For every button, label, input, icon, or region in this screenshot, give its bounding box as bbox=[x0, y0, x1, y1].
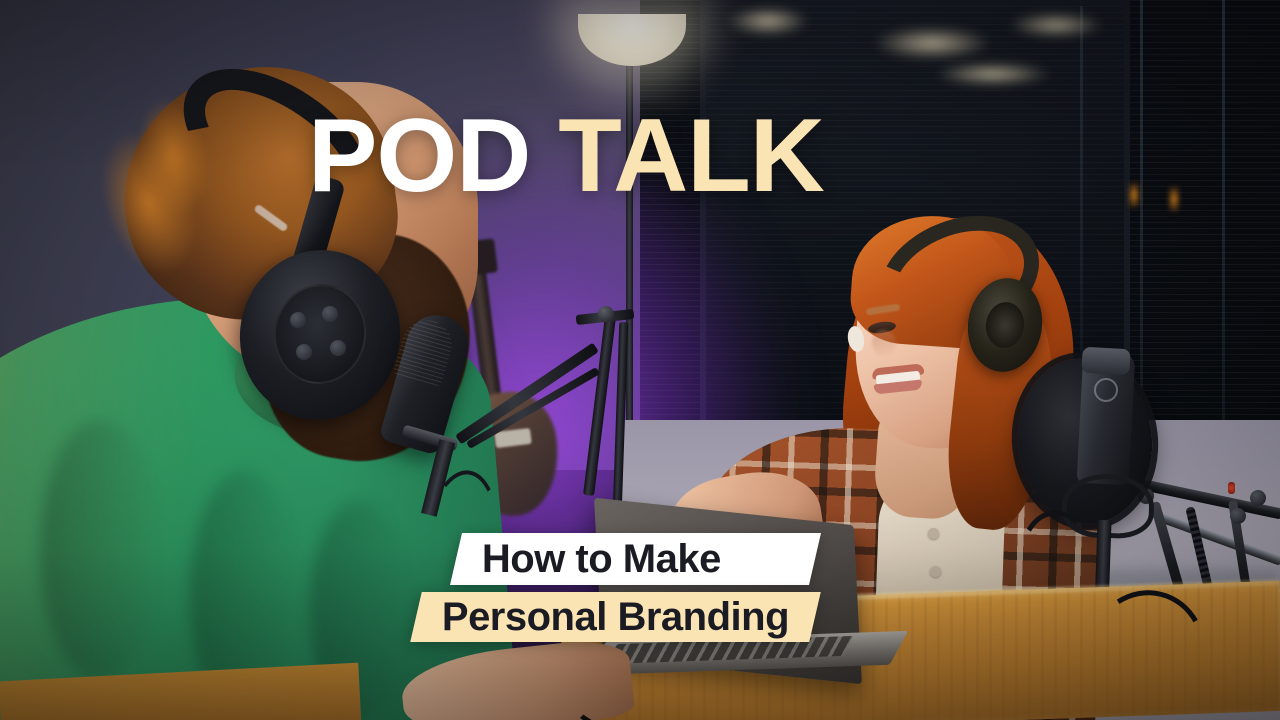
shirt-button-icon bbox=[928, 528, 939, 539]
headphone-control-icon bbox=[330, 340, 346, 356]
woman-nose bbox=[872, 330, 896, 356]
subtitle-banner-group: How to Make Personal Branding bbox=[404, 533, 815, 642]
window-light-icon bbox=[1128, 182, 1140, 208]
subtitle-line-2: Personal Branding bbox=[442, 595, 789, 640]
ceiling-light-icon bbox=[872, 26, 992, 60]
headphone-control-icon bbox=[322, 306, 338, 322]
subtitle-banner-cream: Personal Branding bbox=[410, 592, 821, 642]
subtitle-line-1: How to Make bbox=[482, 537, 721, 582]
headphone-control-icon bbox=[290, 312, 306, 328]
blind-seam-icon bbox=[1222, 0, 1225, 470]
boom-arm-joint bbox=[598, 306, 614, 322]
boom-arm-joint bbox=[1250, 490, 1266, 506]
window-light-icon bbox=[1168, 186, 1180, 212]
video-thumbnail: POD TALK How to Make Personal Branding bbox=[0, 0, 1280, 720]
ceiling-light-icon bbox=[1008, 12, 1104, 38]
boom-arm-joint bbox=[1230, 508, 1246, 524]
subtitle-banner-white: How to Make bbox=[450, 533, 821, 585]
status-led-icon bbox=[1228, 482, 1235, 494]
headphone-control-icon bbox=[296, 344, 312, 360]
headline-word-talk: TALK bbox=[558, 98, 824, 214]
page-title: POD TALK bbox=[308, 104, 824, 208]
ceiling-light-icon bbox=[934, 62, 1052, 86]
microphone-cap bbox=[1081, 347, 1130, 375]
shirt-fold bbox=[40, 420, 160, 680]
headline-word-pod: POD bbox=[308, 98, 530, 214]
shirt-button-icon bbox=[930, 566, 941, 577]
ceiling-light-icon bbox=[726, 6, 810, 36]
